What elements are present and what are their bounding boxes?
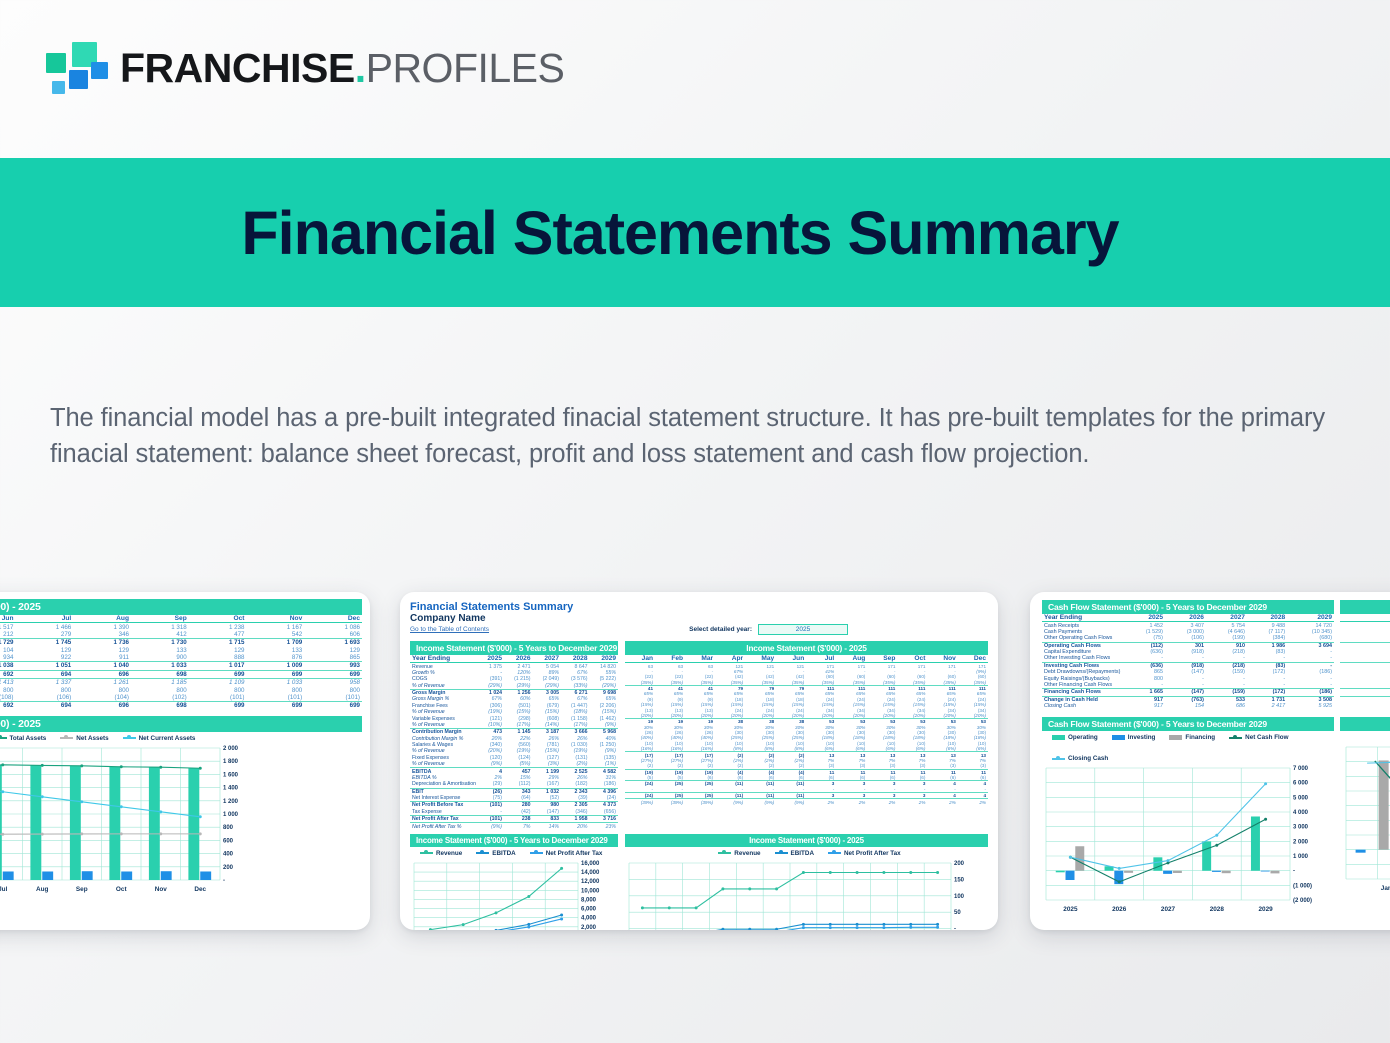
title-banner: Financial Statements Summary xyxy=(0,158,1390,307)
cell: (29%) xyxy=(589,683,618,690)
cell: 2 305 xyxy=(561,802,589,809)
cell: 6 271 xyxy=(561,689,589,696)
cell: 917 xyxy=(1124,703,1165,709)
cell: 1 709 xyxy=(247,639,305,647)
cell: Oct xyxy=(897,655,927,663)
cell: 7% xyxy=(504,823,532,830)
legend-swatch xyxy=(828,852,841,854)
row-label: Net Profit After Tax xyxy=(410,816,478,823)
cell: 1 238 xyxy=(189,623,247,631)
cell: 876 xyxy=(247,654,305,662)
balance-sheet-chart: -2004006008001 0001 2001 4001 6001 8002 … xyxy=(0,744,362,894)
svg-text:Dec: Dec xyxy=(194,886,206,893)
row-label: Gross Margin xyxy=(410,689,478,696)
cell: Jan xyxy=(1340,614,1390,622)
svg-text:200: 200 xyxy=(223,864,234,870)
legend-label: Net Current Assets xyxy=(139,735,196,742)
cell: (83) xyxy=(1247,662,1287,669)
cell: 1 040 xyxy=(73,662,131,670)
cell: 1 337 xyxy=(16,679,74,687)
row-label: Cash Receipts xyxy=(1042,622,1124,629)
cell: (29%) xyxy=(478,683,504,690)
cell: 1 729 xyxy=(0,639,16,647)
cell: 692 xyxy=(0,670,16,678)
svg-text:2 000: 2 000 xyxy=(1293,840,1309,846)
cell: (64) xyxy=(504,795,532,802)
table-row: 32 xyxy=(1340,622,1390,629)
cell: Jul xyxy=(16,615,74,623)
income-5yr-chart-legend: RevenueEBITDANet Profit After Tax xyxy=(410,847,618,859)
cell: (7) xyxy=(1340,635,1390,642)
legend-label: Revenue xyxy=(734,850,760,857)
page-title: Financial Statements Summary xyxy=(0,198,1375,268)
cell: (218) xyxy=(1206,662,1247,669)
cell: 2027 xyxy=(1206,614,1247,622)
cell: 129 xyxy=(16,647,74,654)
cell: (10%) xyxy=(478,722,504,729)
table-row: Tax Expense-(42)(147)(346)(656) xyxy=(410,809,618,816)
cell: 23% xyxy=(589,823,618,830)
cell: - xyxy=(1247,655,1287,662)
balance-sheet-chart-legend: Current LiabilitiesTotal AssetsNet Asset… xyxy=(0,732,362,744)
row-label: Financing Cash Flows xyxy=(1042,689,1124,696)
cell: (9%) xyxy=(478,823,504,830)
row-label: Other Investing Cash Flows xyxy=(1042,655,1124,662)
legend-label: Net Profit After Tax xyxy=(844,850,901,857)
cell: Oct xyxy=(189,615,247,623)
cell: (14%) xyxy=(533,722,561,729)
cell: 800 xyxy=(247,686,305,693)
svg-text:(2 000): (2 000) xyxy=(1293,898,1312,904)
cell: (36) xyxy=(1340,662,1390,669)
row-label: Operating Cash Flows xyxy=(1042,642,1124,649)
row-label: % of Revenue xyxy=(410,683,478,690)
intro-paragraph: The financial model has a pre-built inte… xyxy=(50,400,1340,473)
cell: Jan xyxy=(625,655,655,663)
cash-flow-chart-title: Cash Flow Statement ($'000) - 5 Years to… xyxy=(1042,717,1334,731)
cell: 917 xyxy=(1124,696,1165,703)
svg-text:200: 200 xyxy=(954,861,965,867)
cell: 2026 xyxy=(1165,614,1206,622)
cell: 1 033 xyxy=(131,662,189,670)
cell: 3 187 xyxy=(533,729,561,736)
cell: 3 005 xyxy=(533,689,561,696)
cell: 2029 xyxy=(1287,614,1334,622)
year-picker-label: Select detailed year: xyxy=(689,626,752,633)
cell: (101) xyxy=(304,694,362,702)
cell: 2025 xyxy=(1124,614,1165,622)
cell: 2 343 xyxy=(561,788,589,795)
svg-text:10,000: 10,000 xyxy=(581,888,600,894)
legend-item: Financing xyxy=(1169,734,1215,741)
cell: 2% xyxy=(897,799,927,805)
cell: (763) xyxy=(1165,696,1206,703)
income-monthly-chart-title: Income Statement ($'000) - 2025 xyxy=(625,834,988,847)
cell: (2%) xyxy=(561,761,589,768)
svg-text:2026: 2026 xyxy=(1112,906,1127,913)
cell: 694 xyxy=(16,702,74,710)
cell: 1 390 xyxy=(73,623,131,631)
table-row: 1 5711 5171 4661 3901 3181 2381 1671 086 xyxy=(0,623,362,631)
svg-text:50: 50 xyxy=(954,910,961,916)
cell: 1 693 xyxy=(304,639,362,647)
cell: (918) xyxy=(1165,662,1206,669)
cell: 692 xyxy=(0,702,16,710)
cell: (112) xyxy=(1124,642,1165,649)
cell: 20% xyxy=(561,823,589,830)
legend-label: Operating xyxy=(1068,734,1098,741)
svg-text:1 400: 1 400 xyxy=(223,785,239,791)
table-row: Net Profit Before Tax(101)2809802 3054 3… xyxy=(410,802,618,809)
table-row: - xyxy=(1340,655,1390,662)
table-row: Year Ending20252026202720282029 xyxy=(410,655,618,663)
logo-mosaic-icon xyxy=(46,40,104,96)
cell: 473 xyxy=(478,729,504,736)
cell: (29%) xyxy=(504,683,532,690)
cell: - xyxy=(1287,655,1334,662)
row-label: Net Profit After Tax % xyxy=(410,823,478,830)
cell: 3 716 xyxy=(589,816,618,823)
legend-label: Net Profit After Tax xyxy=(546,850,603,857)
cell: May xyxy=(745,655,776,663)
svg-text:1 000: 1 000 xyxy=(1293,854,1309,860)
row-label: Contribution Margin xyxy=(410,729,478,736)
legend-item: Revenue xyxy=(718,850,760,857)
cell: 14% xyxy=(533,823,561,830)
cell: (9%) xyxy=(715,799,745,805)
table-row: - xyxy=(1340,682,1390,689)
cell: 104 xyxy=(0,647,16,654)
table-row: Operating Cash Flows(112)3019101 9863 69… xyxy=(1042,642,1334,649)
cell: 4 582 xyxy=(589,768,618,775)
cell: 8 647 xyxy=(561,663,589,670)
cell: 800 xyxy=(73,686,131,693)
table-of-contents-link[interactable]: Go to the Table of Contents xyxy=(410,626,489,633)
cell: (5%) xyxy=(504,761,532,768)
row-label: Revenue xyxy=(410,663,478,670)
cell: - xyxy=(1340,682,1390,689)
table-row: Financing Cash Flows1 665(147)(159)(172)… xyxy=(1042,689,1334,696)
legend-item: Investing xyxy=(1112,734,1156,741)
cell: Dec xyxy=(304,615,362,623)
table-row: 800800800800800800800800 xyxy=(0,686,362,693)
brand-logo: FRANCHISE.PROFILES xyxy=(46,40,564,96)
cell: (26) xyxy=(478,788,504,795)
cell: 346 xyxy=(73,631,131,639)
cell: 696 xyxy=(73,670,131,678)
row-label: Net Interest Expense xyxy=(410,795,478,802)
cell: (9%) xyxy=(776,799,806,805)
cell: 606 xyxy=(304,631,362,639)
legend-swatch xyxy=(60,737,73,739)
cell: - xyxy=(1124,682,1165,689)
cell: 911 xyxy=(73,654,131,662)
svg-text:1 800: 1 800 xyxy=(223,759,239,765)
table-row: Other Investing Cash Flows----- xyxy=(1042,655,1334,662)
workbook-title: Financial Statements Summary xyxy=(410,601,988,613)
cell: (147) xyxy=(1165,689,1206,696)
legend-label: Closing Cash xyxy=(1068,755,1108,762)
cell: 1 736 xyxy=(73,639,131,647)
cell: (101) xyxy=(189,694,247,702)
svg-text:Oct: Oct xyxy=(116,886,128,893)
brand-bold: FRANCHISE xyxy=(120,45,355,91)
cell: (33%) xyxy=(561,683,589,690)
legend-label: Financing xyxy=(1185,734,1215,741)
svg-text:800: 800 xyxy=(223,825,234,831)
cell: 1 986 xyxy=(1247,642,1287,649)
cell: 343 xyxy=(504,788,532,795)
cell: 910 xyxy=(1206,642,1247,649)
cell: 1 261 xyxy=(73,679,131,687)
balance-sheet-table-title: Balance Sheet ($'000) - 2025 xyxy=(0,599,362,615)
balance-sheet-chart-title: Balance Sheet ($'000) - 2025 xyxy=(0,716,362,732)
cell: 2% xyxy=(867,799,897,805)
legend-swatch xyxy=(476,852,489,854)
legend-swatch xyxy=(775,852,788,854)
legend-label: Investing xyxy=(1128,734,1156,741)
svg-text:Jul: Jul xyxy=(0,886,8,893)
brand-dot: . xyxy=(355,45,366,91)
cell: 888 xyxy=(189,654,247,662)
cell: 699 xyxy=(304,702,362,710)
balance-sheet-screenshot-card: Balance Sheet ($'000) - 2025 MayJunJulAu… xyxy=(0,592,370,930)
table-row: (22) xyxy=(1340,642,1390,649)
cell: 533 xyxy=(1206,696,1247,703)
cell: 212 xyxy=(0,631,16,639)
cell: - xyxy=(1206,655,1247,662)
svg-text:8,000: 8,000 xyxy=(581,897,597,903)
table-row: Other Operating Cash Flows(75)(106)(199)… xyxy=(1042,635,1334,642)
cell: 280 xyxy=(504,802,532,809)
cell: (75) xyxy=(1124,635,1165,642)
cell: 129 xyxy=(304,647,362,654)
cell: (101) xyxy=(478,802,504,809)
cell: 800 xyxy=(131,686,189,693)
table-row: 703692694696698699699699 xyxy=(0,702,362,710)
cell: - xyxy=(1287,682,1334,689)
cell: (108) xyxy=(0,694,16,702)
income-5yr-table: Year Ending20252026202720282029Revenue1 … xyxy=(410,655,618,830)
table-row: Jan xyxy=(1340,614,1390,622)
svg-text:400: 400 xyxy=(223,851,234,857)
cell: 14 720 xyxy=(1287,622,1334,629)
cell: 1 517 xyxy=(0,623,16,631)
row-label: Debt Drawdowns/(Repayments) xyxy=(1042,669,1124,675)
cell: 1 009 xyxy=(247,662,305,670)
svg-text:-: - xyxy=(223,878,225,884)
cell: 1 413 xyxy=(0,679,16,687)
cell: 699 xyxy=(247,670,305,678)
cell: 32 xyxy=(1340,622,1390,629)
cell: Jun xyxy=(776,655,806,663)
cell: (172) xyxy=(1247,689,1287,696)
table-row: (39%)(39%)(39%)(9%)(9%)(9%)2%2%2%2%2%2% xyxy=(625,799,988,805)
cell: 1 466 xyxy=(16,623,74,631)
cell: 238 xyxy=(504,816,532,823)
svg-text:100: 100 xyxy=(954,894,965,900)
row-label: Depreciation & Amortisation xyxy=(410,781,478,788)
svg-text:2025: 2025 xyxy=(1063,906,1078,913)
company-name: Company Name xyxy=(410,613,988,624)
cell: 1 731 xyxy=(1340,696,1390,703)
cell: 3 407 xyxy=(1165,622,1206,629)
legend-item: Net Profit After Tax xyxy=(530,850,603,857)
cell: 1 033 xyxy=(247,679,305,687)
cell: (112) xyxy=(504,781,532,788)
legend-item: Net Assets xyxy=(60,735,108,742)
table-row: EBITDA44571 1992 5254 582 xyxy=(410,768,618,775)
row-label: Change in Cash Held xyxy=(1042,696,1124,703)
income-5yr-table-title: Income Statement ($'000) - 5 Years to De… xyxy=(410,641,618,655)
table-row: 703692694696698699699699 xyxy=(0,670,362,678)
cell: 1 109 xyxy=(189,679,247,687)
cell: - xyxy=(478,809,504,816)
cell: (9%) xyxy=(478,761,504,768)
cell: 542 xyxy=(247,631,305,639)
table-row: EBIT(26)3431 0322 3434 396 xyxy=(410,788,618,795)
cell: Aug xyxy=(73,615,131,623)
income-statement-screenshot-card: Financial Statements Summary Company Nam… xyxy=(400,592,998,930)
legend-item: Net Profit After Tax xyxy=(828,850,901,857)
cell: (9%) xyxy=(589,722,618,729)
table-row: % of Revenue(10%)(17%)(14%)(17%)(9%) xyxy=(410,722,618,729)
cell: 1 051 xyxy=(16,662,74,670)
cell: (3%) xyxy=(533,761,561,768)
cell: (636) xyxy=(1124,662,1165,669)
cell: (101) xyxy=(478,816,504,823)
cell: Jul xyxy=(806,655,836,663)
row-label: EBIT xyxy=(410,788,478,795)
cell: 1 731 xyxy=(1340,703,1390,709)
table-row: (36) xyxy=(1340,662,1390,669)
cell: Apr xyxy=(715,655,745,663)
cell: 301 xyxy=(1165,642,1206,649)
svg-text:150: 150 xyxy=(954,877,965,883)
cell: Sep xyxy=(867,655,897,663)
cell: 2028 xyxy=(561,655,589,663)
cell: 5 925 xyxy=(1287,703,1334,709)
cell: 4 396 xyxy=(589,788,618,795)
cell: 133 xyxy=(131,647,189,654)
table-row: 1 4711 4131 3371 2611 1851 1091 033958 xyxy=(0,679,362,687)
cell: (1%) xyxy=(589,761,618,768)
cell: - xyxy=(1206,682,1247,689)
cell: 686 xyxy=(1206,703,1247,709)
cell: 4 xyxy=(478,768,504,775)
legend-item: Net Cash Flow xyxy=(1229,734,1288,741)
legend-swatch xyxy=(123,737,136,739)
cell: 154 xyxy=(1165,703,1206,709)
svg-text:2029: 2029 xyxy=(1258,906,1273,913)
table-row: Investing Cash Flows(636)(918)(218)(83)- xyxy=(1042,662,1334,669)
cell: 2028 xyxy=(1247,614,1287,622)
brand-light: PROFILES xyxy=(366,45,565,91)
income-monthly-chart-legend: RevenueEBITDANet Profit After Tax xyxy=(625,847,988,859)
table-row: 1 0451 0381 0511 0401 0331 0171 009993 xyxy=(0,662,362,670)
svg-text:6 000: 6 000 xyxy=(1293,781,1309,787)
cell: (147) xyxy=(533,809,561,816)
cell: (106) xyxy=(1165,635,1206,642)
cell: 5 054 xyxy=(533,663,561,670)
row-label: Net Profit Before Tax xyxy=(410,802,478,809)
cell: 2025 xyxy=(478,655,504,663)
table-row: 178212279346412477542606 xyxy=(0,631,362,639)
row-label: Other Operating Cash Flows xyxy=(1042,635,1124,642)
legend-label: Total Assets xyxy=(10,735,47,742)
cell: 980 xyxy=(533,802,561,809)
cell: 698 xyxy=(131,670,189,678)
cell: 993 xyxy=(304,662,362,670)
legend-label: Net Assets xyxy=(76,735,108,742)
svg-text:3 000: 3 000 xyxy=(1293,825,1309,831)
cell: 800 xyxy=(16,686,74,693)
svg-text:5 000: 5 000 xyxy=(1293,796,1309,802)
table-row: 1 789 xyxy=(1340,689,1390,696)
svg-text:14,000: 14,000 xyxy=(581,870,600,876)
cash-flow-side-chart: Jan xyxy=(1340,743,1390,893)
cell: Aug xyxy=(836,655,867,663)
cash-flow-table: Year Ending20252026202720282029Cash Rece… xyxy=(1042,614,1334,709)
svg-text:Nov: Nov xyxy=(155,886,168,893)
cell: (104) xyxy=(73,694,131,702)
cell: 2027 xyxy=(533,655,561,663)
cell: 934 xyxy=(0,654,16,662)
cell: 1 715 xyxy=(189,639,247,647)
year-picker-input[interactable]: 2025 xyxy=(758,624,848,635)
cell: 2% xyxy=(836,799,867,805)
cell: Nov xyxy=(927,655,957,663)
cell: 279 xyxy=(16,631,74,639)
svg-text:2027: 2027 xyxy=(1161,906,1176,913)
cell: 1 038 xyxy=(0,662,16,670)
table-row: JanFebMarAprMayJunJulAugSepOctNovDec xyxy=(625,655,988,663)
table-row: Net Profit After Tax(101)2388331 9583 71… xyxy=(410,816,618,823)
row-label: Year Ending xyxy=(1042,614,1124,622)
cell: 4 373 xyxy=(589,802,618,809)
cell: 694 xyxy=(16,670,74,678)
cell: 865 xyxy=(304,654,362,662)
legend-swatch xyxy=(1052,758,1065,760)
table-row: 101104129129133129133129 xyxy=(0,647,362,654)
cell: 699 xyxy=(189,670,247,678)
svg-text:1 600: 1 600 xyxy=(223,772,239,778)
cell: - xyxy=(1165,682,1206,689)
income-monthly-table: JanFebMarAprMayJunJulAugSepOctNovDec6363… xyxy=(625,655,988,805)
svg-text:4 000: 4 000 xyxy=(1293,810,1309,816)
cell: 3 508 xyxy=(1287,696,1334,703)
cell: - xyxy=(1165,655,1206,662)
cell: (39%) xyxy=(685,799,715,805)
cell: 2% xyxy=(806,799,836,805)
table-row: Net Interest Expense(75)(64)(52)(39)(24) xyxy=(410,795,618,802)
cell: 699 xyxy=(304,670,362,678)
cell: 1 318 xyxy=(131,623,189,631)
cell: 133 xyxy=(247,647,305,654)
legend-label: Revenue xyxy=(436,850,462,857)
cell: 1 086 xyxy=(304,623,362,631)
table-row: 1 731 xyxy=(1340,703,1390,709)
cell: (186) xyxy=(589,781,618,788)
table-row: (7) xyxy=(1340,635,1390,642)
legend-label: EBITDA xyxy=(492,850,515,857)
row-label: Tax Expense xyxy=(410,809,478,816)
legend-swatch xyxy=(420,852,433,854)
cell: 1 167 xyxy=(247,623,305,631)
cell: Jun xyxy=(0,615,16,623)
table-row: Contribution Margin4731 1453 1873 6665 9… xyxy=(410,729,618,736)
cell: 9 488 xyxy=(1247,622,1287,629)
